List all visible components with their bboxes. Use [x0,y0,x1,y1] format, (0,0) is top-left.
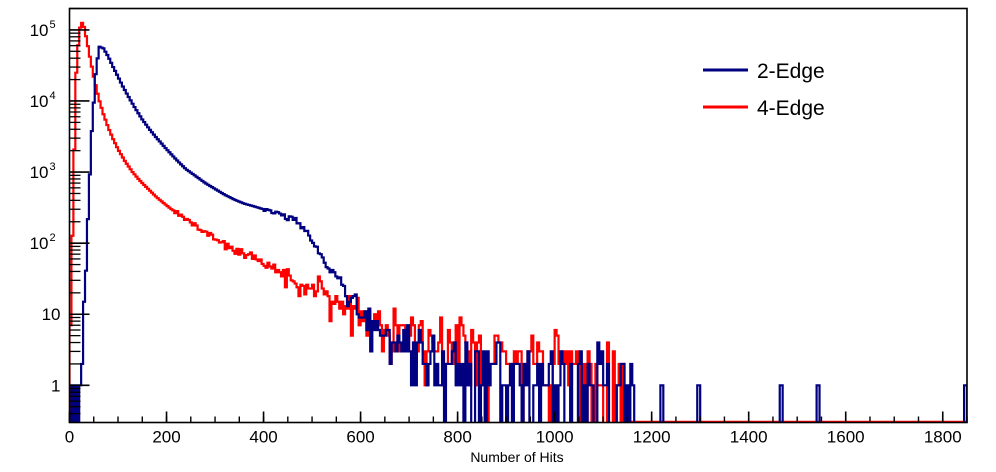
legend-entry[interactable]: 4-Edge [703,97,825,120]
svg-text:10: 10 [30,21,49,40]
series-line-4-edge [70,23,625,423]
svg-text:4: 4 [50,90,56,102]
x-tick-label: 200 [152,428,180,447]
svg-text:2: 2 [50,232,56,244]
series-4-edge [70,23,968,423]
svg-text:10: 10 [30,92,49,111]
series-tail-spike-2-edge [660,385,663,422]
x-tick-label: 0 [65,428,74,447]
svg-text:3: 3 [50,161,56,173]
legend-label: 2-Edge [757,60,825,83]
x-tick-label: 600 [346,428,374,447]
svg-text:10: 10 [30,163,49,182]
x-tick-label: 1400 [730,428,768,447]
x-tick-label: 800 [443,428,471,447]
y-tick-label: 102 [30,232,56,253]
series-tail-spike-2-edge [817,385,820,422]
x-tick-label: 1000 [536,428,574,447]
y-tick-label: 105 [30,19,56,40]
legend-entry[interactable]: 2-Edge [703,60,825,83]
series-2-edge [71,47,967,423]
y-tick-label: 10 [42,305,61,324]
x-axis: 020040060080010001200140016001800 [65,412,967,447]
svg-text:10: 10 [42,305,61,324]
series-line-2-edge [71,47,634,423]
x-tick-label: 400 [249,428,277,447]
series-tail-spike-2-edge [780,385,783,422]
series-layer [70,23,968,423]
y-tick-label: 104 [30,90,56,111]
svg-text:1: 1 [51,376,60,395]
x-tick-label: 1600 [827,428,865,447]
x-tick-label: 1800 [924,428,962,447]
x-tick-label: 1200 [633,428,671,447]
y-tick-label: 103 [30,161,56,182]
plot-canvas: 020040060080010001200140016001800 110102… [0,0,996,472]
svg-text:10: 10 [30,234,49,253]
legend: 2-Edge4-Edge [703,60,825,120]
x-axis-title: Number of Hits [470,449,563,465]
legend-label: 4-Edge [757,97,825,120]
y-tick-label: 1 [51,376,60,395]
histogram-figure: 020040060080010001200140016001800 110102… [0,0,996,472]
svg-text:5: 5 [50,19,56,31]
y-axis: 110102103104105 [30,9,90,414]
